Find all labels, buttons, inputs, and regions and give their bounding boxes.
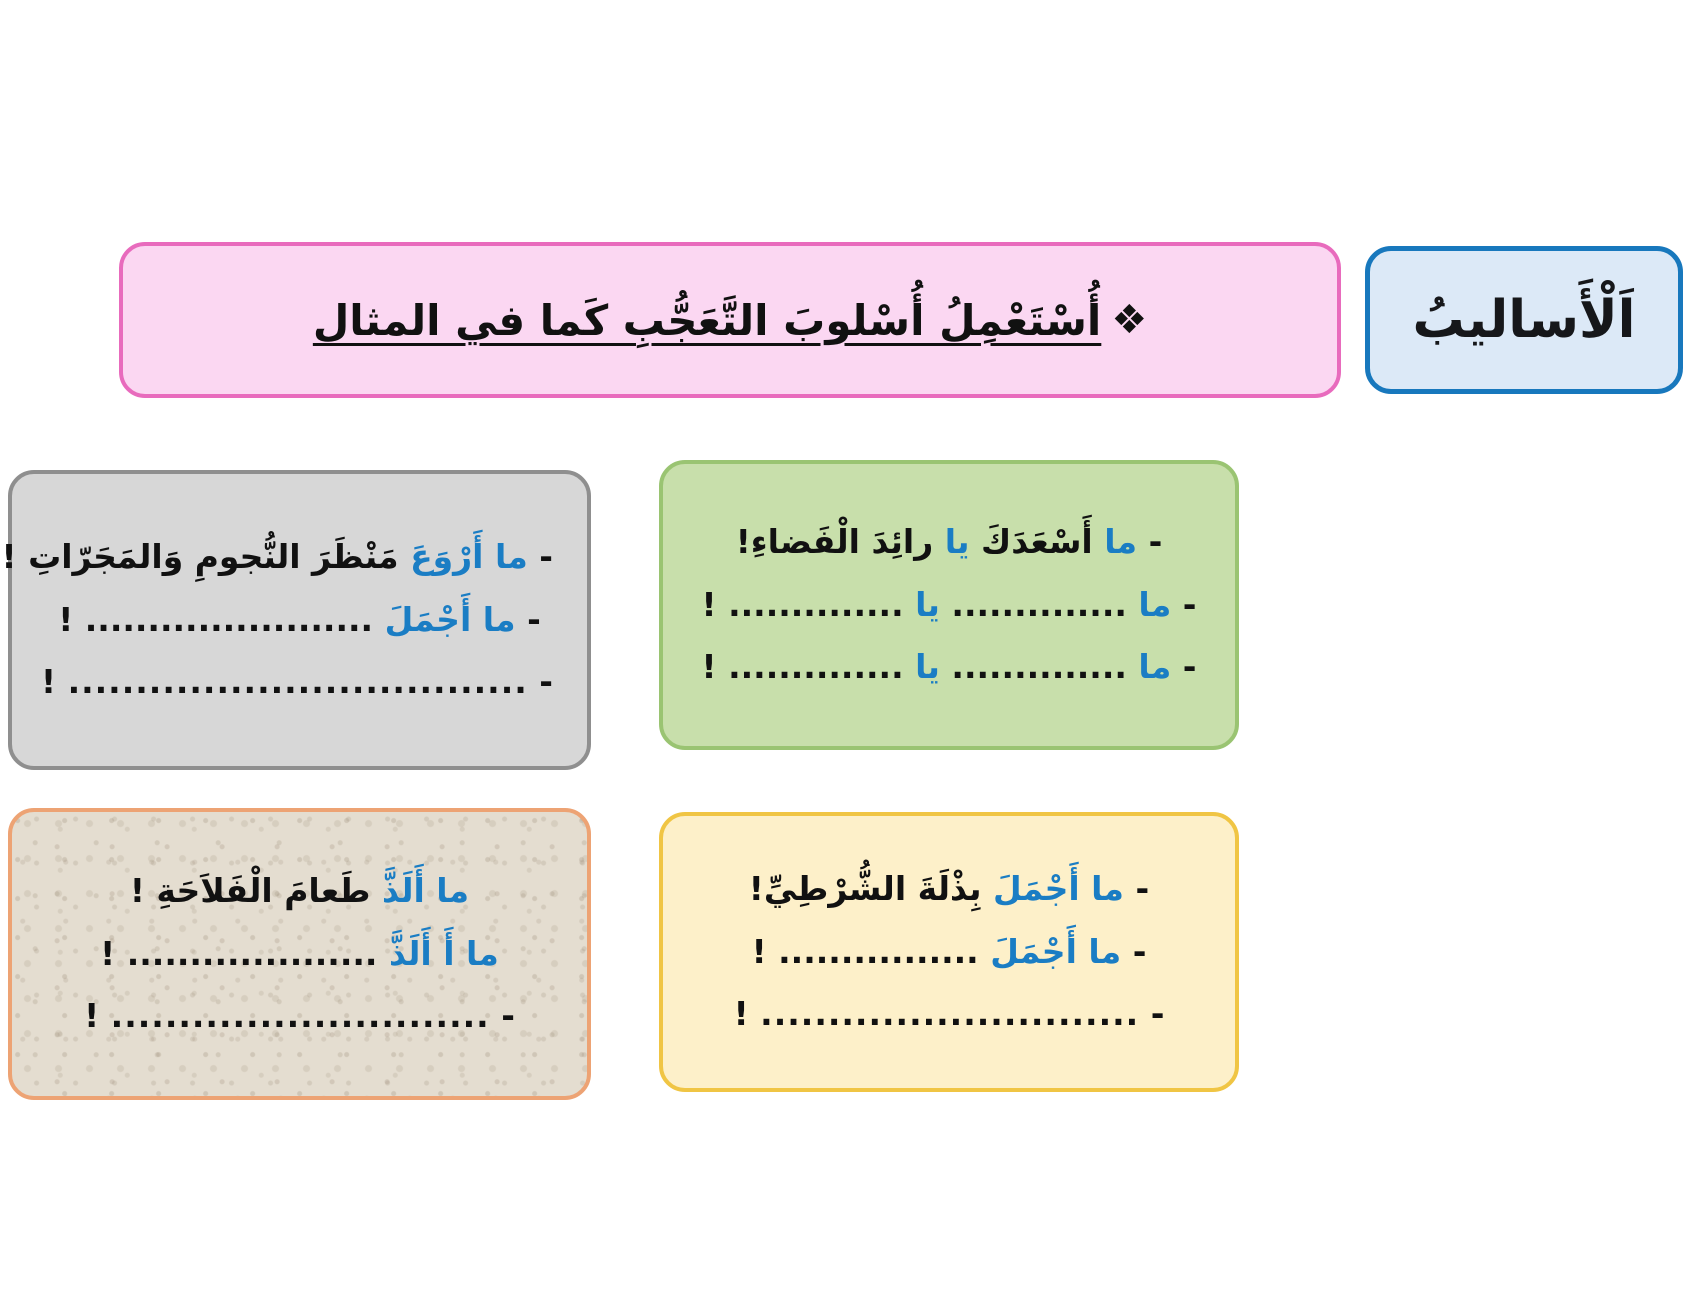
line-dash: - xyxy=(1149,522,1163,561)
exercise-line[interactable]: - ............................ ! xyxy=(697,983,1201,1046)
blank-dots[interactable]: .............. xyxy=(728,647,904,686)
exercise-line: - ما أَسْعَدَكَ يا رائِدَ الْفَضاءِ! xyxy=(697,511,1201,574)
keyword-ma: ما xyxy=(1104,522,1137,561)
line-dash: - xyxy=(1135,869,1149,908)
exercise-card-green: - ما أَسْعَدَكَ يا رائِدَ الْفَضاءِ! - م… xyxy=(659,460,1239,750)
exercise-line[interactable]: - ما .............. يا .............. ! xyxy=(697,574,1201,637)
line-tail: ! xyxy=(702,647,717,686)
exercise-card-beige: ما أَلَذَّ طَعامَ الْفَلاَحَةِ ! ما أَ أ… xyxy=(8,808,591,1100)
line-tail: ! xyxy=(41,662,56,701)
line-tail: بِذْلَةَ الشُّرْطِيِّ! xyxy=(749,869,982,908)
keyword-ma: ما xyxy=(1138,585,1171,624)
blank-dots[interactable]: .............. xyxy=(728,585,904,624)
exercise-card-gray: - ما أَرْوَعَ مَنْظَرَ النُّجومِ وَالمَج… xyxy=(8,470,591,770)
instruction-banner: ❖ أُسْتَعْمِلُ أُسْلوبَ التَّعَجُّبِ كَم… xyxy=(119,242,1341,398)
exercise-line[interactable]: - ما .............. يا .............. ! xyxy=(697,636,1201,699)
keyword-ma-aladh: ما أَلَذَّ xyxy=(382,871,469,910)
exercise-line: - ما أَجْمَلَ بِذْلَةَ الشُّرْطِيِّ! xyxy=(697,858,1201,921)
line-tail: ! xyxy=(734,994,749,1033)
line-dash: - xyxy=(1183,585,1197,624)
blank-dots[interactable]: .................................. xyxy=(68,662,528,701)
line-tail: ! xyxy=(100,934,115,973)
exercise-line[interactable]: - ما أَجْمَلَ ................ ! xyxy=(697,921,1201,984)
exercise-card-yellow: - ما أَجْمَلَ بِذْلَةَ الشُّرْطِيِّ! - م… xyxy=(659,812,1239,1092)
line-dash: - xyxy=(1133,932,1147,971)
keyword-ya: يا xyxy=(915,585,940,624)
keyword-ma-aladh: ما أَ أَلَذَّ xyxy=(389,934,499,973)
keyword-ya: يا xyxy=(945,522,970,561)
keyword-ya: يا xyxy=(915,647,940,686)
keyword-ma-arwaa: ما أَرْوَعَ xyxy=(410,537,528,576)
worksheet-page: اَلْأَساليبُ ❖ أُسْتَعْمِلُ أُسْلوبَ الت… xyxy=(0,0,1689,1289)
exercise-line[interactable]: - ............................ ! xyxy=(46,985,553,1048)
blank-dots[interactable]: ............................ xyxy=(111,996,490,1035)
line-tail: ! xyxy=(752,932,767,971)
blank-dots[interactable]: .............. xyxy=(951,585,1127,624)
line-tail: ! xyxy=(702,585,717,624)
line-dash: - xyxy=(1151,994,1165,1033)
diamond-bullet-icon: ❖ xyxy=(1111,300,1147,340)
line-dash: - xyxy=(539,537,553,576)
keyword-ma-ajmal: ما أَجْمَلَ xyxy=(993,869,1124,908)
keyword-ma-ajmal: ما أَجْمَلَ xyxy=(990,932,1121,971)
line-dash: - xyxy=(1183,647,1197,686)
exercise-line: ما أَلَذَّ طَعامَ الْفَلاَحَةِ ! xyxy=(46,860,553,923)
keyword-ma-ajmal: ما أَجْمَلَ xyxy=(385,600,516,639)
blank-dots[interactable]: ................ xyxy=(778,932,979,971)
blank-dots[interactable]: .................... xyxy=(127,934,378,973)
blank-dots[interactable]: ....................... xyxy=(85,600,373,639)
line-tail: مَنْظَرَ النُّجومِ وَالمَجَرّاتِ ! xyxy=(2,537,399,576)
line-tail: رائِدَ الْفَضاءِ! xyxy=(736,522,934,561)
line-verb: أَسْعَدَكَ xyxy=(981,522,1093,561)
header-row: اَلْأَساليبُ ❖ أُسْتَعْمِلُ أُسْلوبَ الت… xyxy=(0,240,1689,400)
line-dash: - xyxy=(501,996,515,1035)
line-dash: - xyxy=(539,662,553,701)
line-dash: - xyxy=(527,600,541,639)
line-tail: ! xyxy=(84,996,99,1035)
blank-dots[interactable]: ............................ xyxy=(760,994,1139,1033)
line-tail: طَعامَ الْفَلاَحَةِ ! xyxy=(130,871,371,910)
keyword-ma: ما xyxy=(1138,647,1171,686)
line-tail: ! xyxy=(58,600,73,639)
exercise-line[interactable]: - .................................. ! xyxy=(46,651,553,714)
exercise-line[interactable]: - ما أَجْمَلَ ....................... ! xyxy=(46,589,553,652)
page-title: اَلْأَساليبُ xyxy=(1413,288,1636,353)
exercise-line: - ما أَرْوَعَ مَنْظَرَ النُّجومِ وَالمَج… xyxy=(46,526,553,589)
page-title-chip: اَلْأَساليبُ xyxy=(1365,246,1683,394)
blank-dots[interactable]: .............. xyxy=(951,647,1127,686)
instruction-text: أُسْتَعْمِلُ أُسْلوبَ التَّعَجُّبِ كَما … xyxy=(313,296,1101,345)
exercise-line[interactable]: ما أَ أَلَذَّ .................... ! xyxy=(46,923,553,986)
